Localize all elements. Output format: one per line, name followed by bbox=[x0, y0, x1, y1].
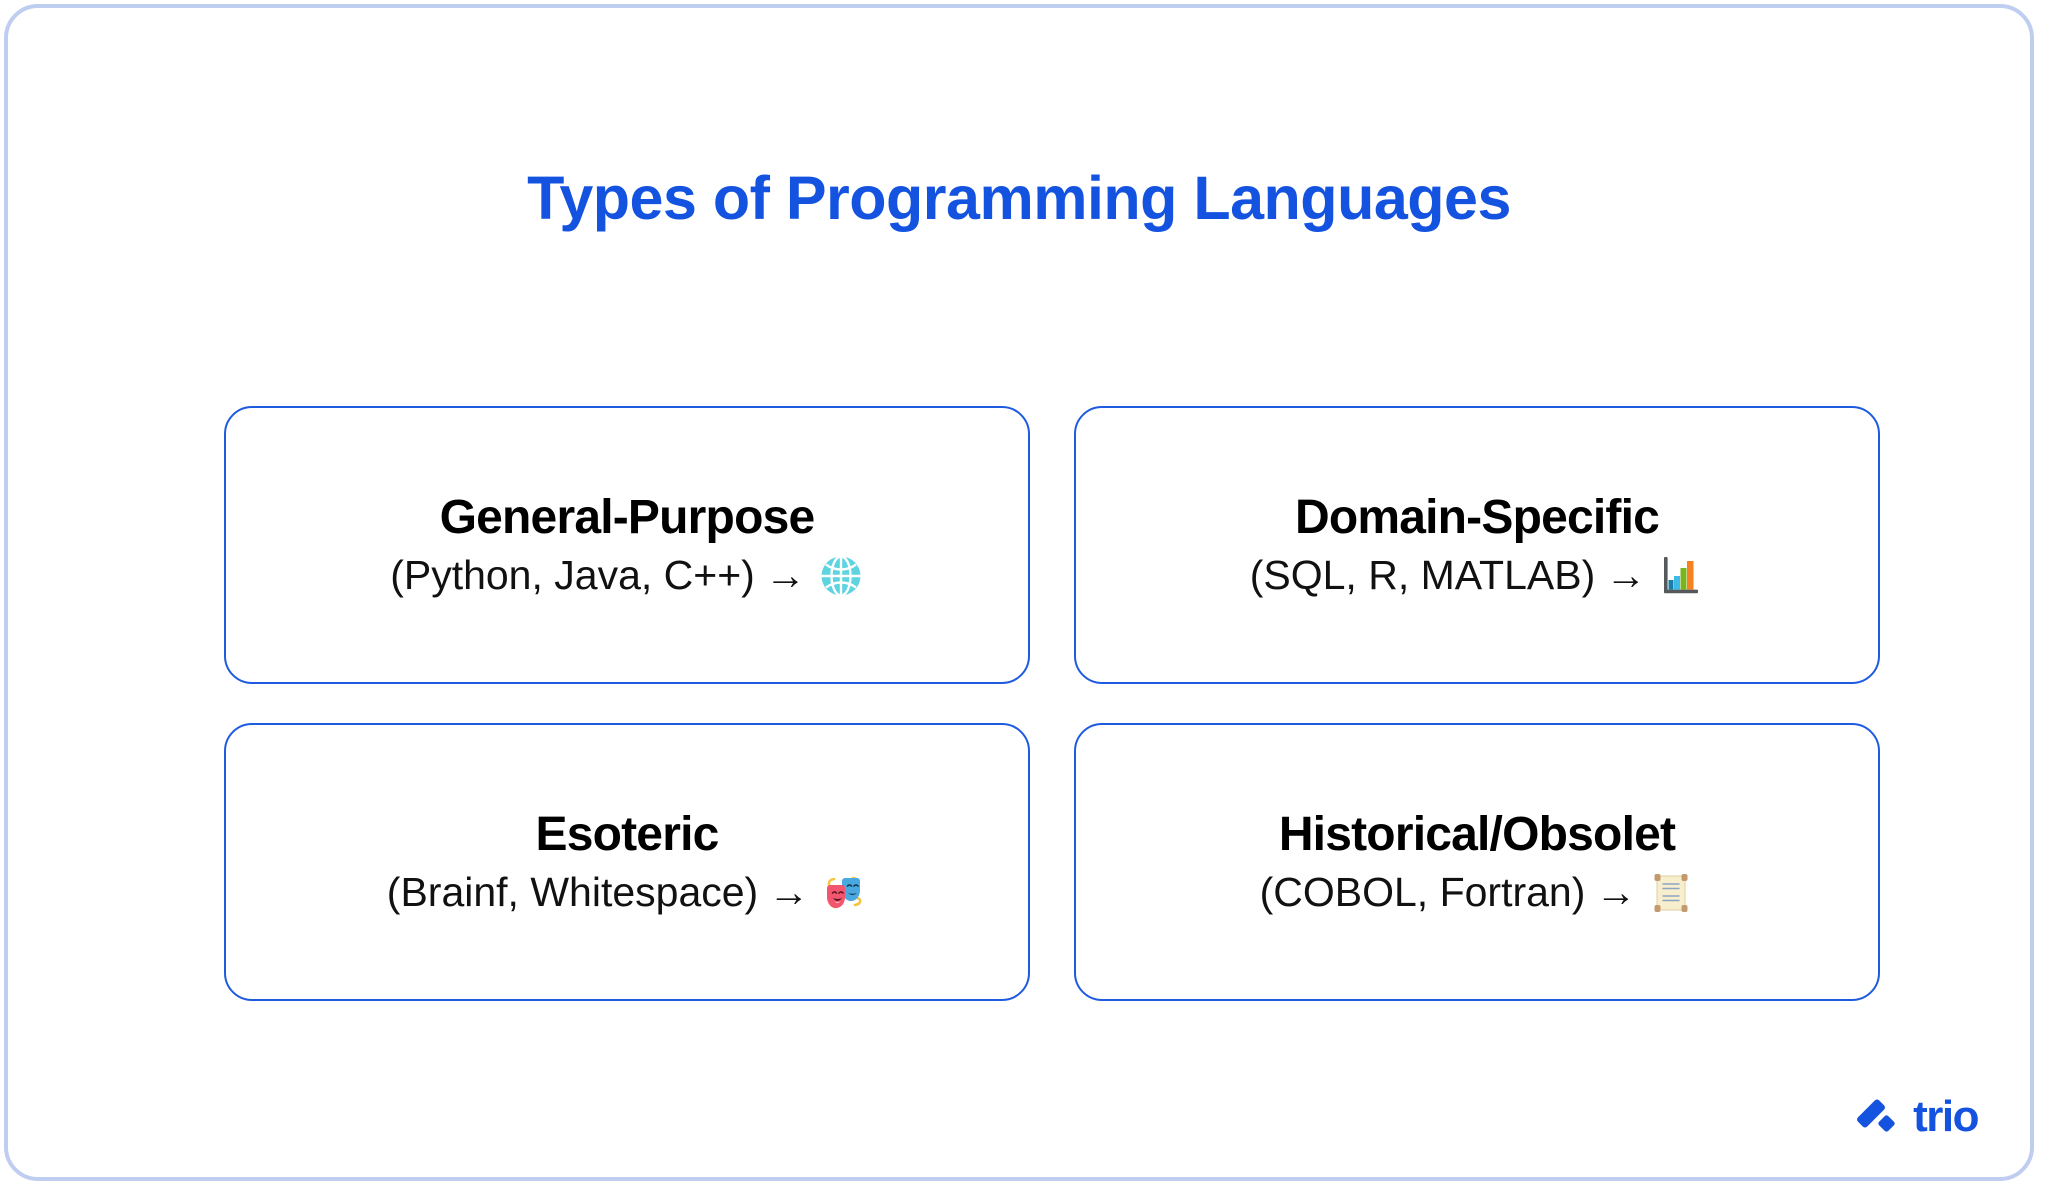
card-domain-specific[interactable]: Domain-Specific (SQL, R, MATLAB) → bbox=[1074, 406, 1880, 684]
language-types-grid: General-Purpose (Python, Java, C++) → bbox=[224, 406, 1880, 1001]
card-examples: (Brainf, Whitespace) bbox=[387, 869, 758, 916]
card-historical-obsolet[interactable]: Historical/Obsolet (COBOL, Fortran) → bbox=[1074, 723, 1880, 1001]
card-examples: (COBOL, Fortran) bbox=[1260, 869, 1586, 916]
card-subtitle: (Brainf, Whitespace) → bbox=[387, 869, 867, 916]
arrow-right-icon: → bbox=[1585, 869, 1648, 916]
arrow-right-icon: → bbox=[758, 869, 821, 916]
card-subtitle: (COBOL, Fortran) → bbox=[1260, 869, 1695, 916]
globe-with-meridians-icon bbox=[818, 553, 864, 599]
arrow-right-icon: → bbox=[755, 552, 818, 599]
card-subtitle: (Python, Java, C++) → bbox=[390, 552, 864, 599]
trio-logo-mark bbox=[1857, 1095, 1903, 1139]
scroll-icon bbox=[1648, 870, 1694, 916]
card-general-purpose[interactable]: General-Purpose (Python, Java, C++) → bbox=[224, 406, 1030, 684]
arrow-right-icon: → bbox=[1595, 552, 1658, 599]
card-esoteric[interactable]: Esoteric (Brainf, Whitespace) → bbox=[224, 723, 1030, 1001]
trio-wordmark: trio bbox=[1913, 1095, 1978, 1139]
trio-logo[interactable]: trio bbox=[1857, 1095, 1978, 1139]
card-title: Domain-Specific bbox=[1295, 491, 1659, 545]
card-title: Historical/Obsolet bbox=[1279, 808, 1675, 862]
card-examples: (Python, Java, C++) bbox=[390, 552, 755, 599]
card-title: Esoteric bbox=[535, 808, 718, 862]
card-subtitle: (SQL, R, MATLAB) → bbox=[1250, 552, 1705, 599]
performing-arts-masks-icon bbox=[821, 870, 867, 916]
page-frame: Types of Programming Languages General-P… bbox=[4, 4, 2034, 1181]
page-title: Types of Programming Languages bbox=[8, 163, 2030, 233]
card-examples: (SQL, R, MATLAB) bbox=[1250, 552, 1596, 599]
bar-chart-icon bbox=[1658, 553, 1704, 599]
card-title: General-Purpose bbox=[440, 491, 815, 545]
